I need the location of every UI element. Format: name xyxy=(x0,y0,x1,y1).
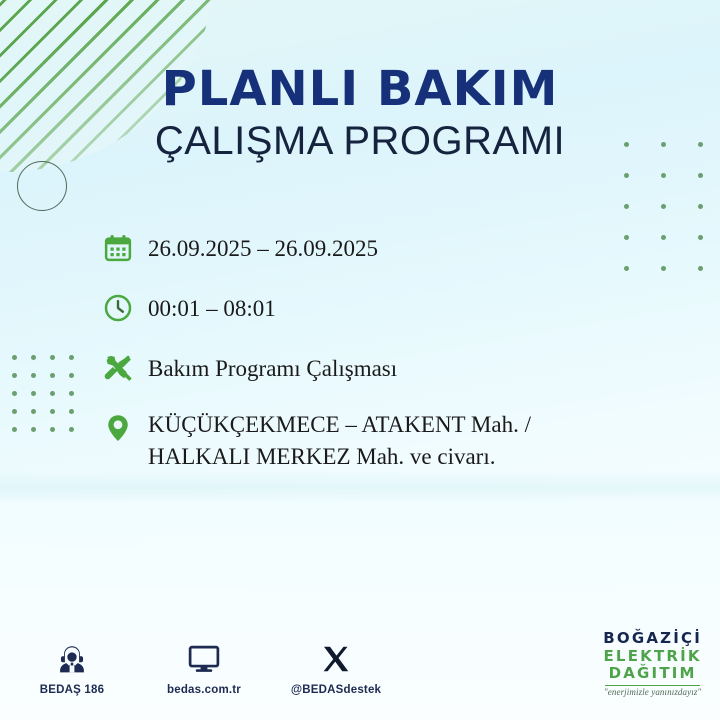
support-headset-icon xyxy=(26,640,118,678)
brand-line-3: DAĞITIM xyxy=(603,665,702,683)
detail-row-location: KÜÇÜKÇEKMECE – ATAKENT Mah. / HALKALI ME… xyxy=(96,406,656,472)
detail-work-type: Bakım Programı Çalışması xyxy=(140,346,397,385)
detail-time-range: 00:01 – 08:01 xyxy=(140,286,276,325)
brand-divider xyxy=(605,685,700,686)
location-pin-icon xyxy=(96,406,140,450)
planned-maintenance-poster: PLANLI BAKIM ÇALIŞMA PROGRAMI xyxy=(0,0,720,720)
circle-outline-decoration xyxy=(17,161,67,211)
detail-date-range: 26.09.2025 – 26.09.2025 xyxy=(140,226,378,265)
maintenance-details-list: 26.09.2025 – 26.09.2025 00:01 – 08:01 xyxy=(96,226,656,488)
bogazici-elektrik-dagitim-logo: BOĞAZİÇİ ELEKTRİK DAĞITIM "enerjimizle y… xyxy=(603,630,702,697)
contact-website-label: bedas.com.tr xyxy=(158,684,250,696)
brand-line-2: ELEKTRİK xyxy=(603,648,702,666)
dot-grid-left-decoration xyxy=(12,355,88,445)
page-title: PLANLI BAKIM xyxy=(0,64,720,115)
brand-tagline: "enerjimizle yanınızdayız" xyxy=(603,687,702,697)
brand-line-1: BOĞAZİÇİ xyxy=(603,630,702,648)
x-twitter-icon xyxy=(290,640,382,678)
detail-row-date: 26.09.2025 – 26.09.2025 xyxy=(96,226,656,270)
page-subtitle: ÇALIŞMA PROGRAMI xyxy=(0,119,720,164)
calendar-icon xyxy=(96,226,140,270)
detail-row-work-type: Bakım Programı Çalışması xyxy=(96,346,656,390)
detail-location: KÜÇÜKÇEKMECE – ATAKENT Mah. / HALKALI ME… xyxy=(140,406,531,472)
contact-twitter-label: @BEDASdestek xyxy=(290,684,382,696)
contact-call-center[interactable]: BEDAŞ 186 xyxy=(26,640,118,696)
detail-row-time: 00:01 – 08:01 xyxy=(96,286,656,330)
contact-twitter[interactable]: @BEDASdestek xyxy=(290,640,382,696)
monitor-icon xyxy=(158,640,250,678)
tools-icon xyxy=(96,346,140,390)
contact-website[interactable]: bedas.com.tr xyxy=(158,640,250,696)
clock-icon xyxy=(96,286,140,330)
footer-contacts: BEDAŞ 186 bedas.com.tr @BEDASdestek xyxy=(26,640,382,696)
contact-call-center-label: BEDAŞ 186 xyxy=(26,684,118,696)
poster-header: PLANLI BAKIM ÇALIŞMA PROGRAMI xyxy=(0,64,720,164)
